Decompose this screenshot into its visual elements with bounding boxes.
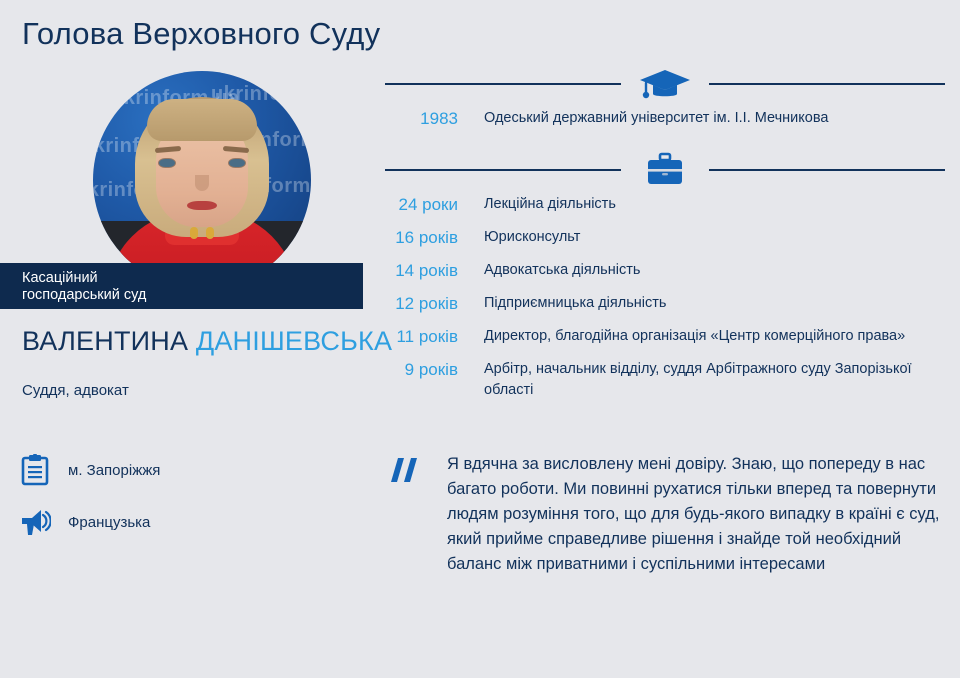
quote-text: Я вдячна за висловлену мені довіру. Знаю… — [447, 452, 945, 577]
education-desc: Одеський державний університет ім. І.І. … — [484, 108, 828, 129]
education-year: 1983 — [385, 108, 458, 129]
avatar: ukrinform.ua ukrinform.ua ukrinform.ua u… — [93, 71, 311, 289]
eye-left — [159, 159, 175, 167]
infographic-page: Голова Верховного Суду ukrinform.ua ukri… — [0, 0, 960, 678]
graduation-cap-icon — [621, 66, 709, 102]
experience-row: 11 років Директор, благодійна організаці… — [385, 326, 945, 347]
megaphone-icon — [18, 504, 52, 540]
experience-row: 24 роки Лекційна діяльність — [385, 194, 945, 215]
clipboard-icon — [18, 452, 52, 488]
experience-row: 16 років Юрисконсульт — [385, 227, 945, 248]
experience-header — [385, 152, 945, 188]
experience-years: 24 роки — [385, 194, 458, 215]
nose — [195, 175, 209, 191]
divider-left — [385, 169, 621, 171]
experience-years: 11 років — [385, 326, 458, 347]
mouth — [187, 201, 217, 210]
court-band-line1: Касаційний — [22, 270, 363, 287]
person-last-name: ДАНІШЕВСЬКА — [196, 326, 392, 356]
education-row: 1983 Одеський державний університет ім. … — [385, 108, 945, 129]
quote-mark-icon — [385, 452, 447, 491]
person-name: ВАЛЕНТИНА ДАНІШЕВСЬКА — [22, 326, 392, 357]
experience-rows: 24 роки Лекційна діяльність 16 років Юри… — [385, 194, 945, 401]
divider-left — [385, 83, 621, 85]
divider-right — [709, 169, 945, 171]
experience-desc: Юрисконсульт — [484, 227, 580, 248]
detail-city: м. Запоріжжя — [18, 452, 160, 488]
experience-row: 14 років Адвокатська діяльність — [385, 260, 945, 281]
experience-desc: Підприємницька діяльність — [484, 293, 666, 314]
experience-years: 14 років — [385, 260, 458, 281]
experience-row: 12 років Підприємницька діяльність — [385, 293, 945, 314]
detail-city-label: м. Запоріжжя — [68, 462, 160, 479]
quote-block: Я вдячна за висловлену мені довіру. Знаю… — [385, 452, 945, 577]
court-band: Касаційний господарський суд — [0, 263, 363, 309]
experience-desc: Директор, благодійна організація «Центр … — [484, 326, 905, 347]
experience-desc: Арбітр, начальник відділу, суддя Арбітра… — [484, 359, 945, 401]
education-section: 1983 Одеський державний університет ім. … — [385, 66, 945, 129]
experience-desc: Адвокатська діяльність — [484, 260, 640, 281]
detail-language-label: Французька — [68, 514, 150, 531]
page-title: Голова Верховного Суду — [22, 16, 380, 52]
experience-years: 16 років — [385, 227, 458, 248]
earring-right — [190, 227, 198, 239]
education-rows: 1983 Одеський державний університет ім. … — [385, 108, 945, 129]
detail-language: Французька — [18, 504, 150, 540]
experience-section: 24 роки Лекційна діяльність 16 років Юри… — [385, 152, 945, 413]
education-header — [385, 66, 945, 102]
person-first-name: ВАЛЕНТИНА — [22, 326, 188, 356]
court-band-line2: господарський суд — [22, 287, 363, 304]
experience-years: 12 років — [385, 293, 458, 314]
experience-years: 9 років — [385, 359, 458, 380]
earring-left — [206, 227, 214, 239]
experience-row: 9 років Арбітр, начальник відділу, суддя… — [385, 359, 945, 401]
eye-right — [229, 159, 245, 167]
briefcase-icon — [621, 152, 709, 188]
divider-right — [709, 83, 945, 85]
portrait-fringe — [147, 99, 257, 141]
experience-desc: Лекційна діяльність — [484, 194, 616, 215]
person-role: Суддя, адвокат — [22, 382, 129, 399]
